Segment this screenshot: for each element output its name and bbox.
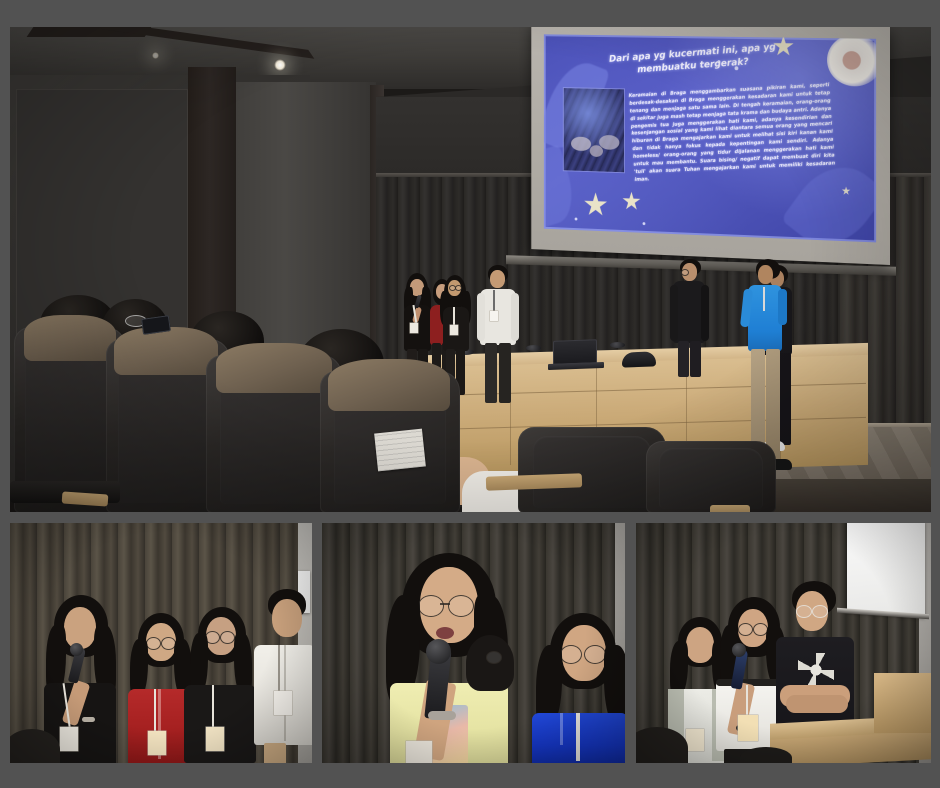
arm bbox=[778, 289, 787, 325]
microphone-base bbox=[610, 342, 625, 348]
lanyard bbox=[212, 685, 214, 729]
laptop-screen bbox=[553, 339, 597, 365]
head bbox=[64, 607, 96, 649]
glasses bbox=[584, 645, 606, 664]
microphone-head bbox=[70, 643, 83, 656]
name-badge bbox=[148, 731, 166, 755]
photo-panel-top: Auditorium with students presenting in f… bbox=[10, 27, 931, 512]
glasses bbox=[681, 269, 689, 276]
lanyard bbox=[154, 689, 156, 733]
ceiling-spotlight bbox=[274, 59, 286, 71]
glasses bbox=[448, 595, 474, 617]
foreground-audience-head bbox=[740, 747, 792, 763]
torso-blue-shirt bbox=[748, 285, 782, 351]
presentation-slide: Dari apa yg kucermati ini, apa yg membua… bbox=[544, 34, 876, 242]
leg bbox=[499, 343, 511, 403]
glasses bbox=[220, 631, 235, 644]
star-decoration bbox=[584, 192, 608, 218]
photo-panel-bottom-right: Three students near a projector screen, … bbox=[636, 523, 931, 763]
shirt-graphic-print bbox=[798, 653, 834, 687]
lanyard bbox=[576, 713, 580, 761]
lanyard bbox=[493, 290, 495, 312]
head bbox=[272, 599, 302, 637]
arm bbox=[701, 285, 709, 341]
name-badge bbox=[490, 311, 498, 321]
bc-person-2 bbox=[530, 613, 625, 763]
arm bbox=[670, 285, 678, 341]
photo-panel-bottom-center: Close-up of a girl with glasses in a yel… bbox=[322, 523, 625, 763]
photo-collage: Student presentation collage — auditoriu… bbox=[0, 0, 940, 788]
leg bbox=[485, 343, 497, 403]
leg bbox=[264, 743, 286, 763]
head bbox=[490, 270, 505, 288]
bl-person-3 bbox=[182, 607, 264, 763]
auditorium-seat bbox=[518, 427, 666, 512]
ceiling-spotlight bbox=[152, 52, 159, 59]
conference-phone bbox=[622, 351, 656, 367]
lanyard bbox=[763, 287, 765, 311]
bracelet bbox=[82, 717, 95, 722]
name-badge bbox=[206, 727, 224, 751]
glasses bbox=[455, 285, 462, 291]
projection-screen: Dari apa yg kucermati ini, apa yg membua… bbox=[531, 27, 890, 265]
arm-crossed bbox=[786, 695, 848, 713]
slide-title: Dari apa yg kucermati ini, apa yg membua… bbox=[585, 40, 802, 81]
glasses bbox=[560, 645, 582, 664]
slide-embedded-photo bbox=[564, 88, 624, 172]
wristband bbox=[428, 711, 456, 720]
bl-person-4 bbox=[254, 589, 312, 763]
seat-tablet-arm bbox=[710, 505, 750, 512]
seat-cushion bbox=[328, 359, 450, 411]
name-badge bbox=[450, 325, 458, 335]
glasses bbox=[146, 637, 161, 650]
flower-decoration bbox=[827, 34, 876, 87]
photo-panel-bottom-left: Four students standing in front of a cur… bbox=[10, 523, 312, 763]
slide-body-text: Keramaian di Braga menggambarkan suasana… bbox=[629, 82, 836, 184]
head bbox=[686, 627, 714, 663]
name-badge bbox=[410, 323, 418, 333]
microphone-head bbox=[732, 643, 746, 657]
arm bbox=[511, 293, 519, 341]
glasses bbox=[418, 595, 444, 617]
dot-decoration bbox=[643, 222, 646, 225]
leg bbox=[678, 341, 689, 377]
seat-cushion bbox=[114, 327, 218, 375]
glasses bbox=[796, 605, 812, 618]
polo-placket bbox=[560, 713, 563, 745]
wood-panel bbox=[874, 673, 931, 733]
torso bbox=[184, 685, 256, 763]
lanyard bbox=[453, 307, 455, 327]
leg bbox=[690, 341, 701, 377]
glasses bbox=[812, 605, 828, 618]
dot-decoration bbox=[575, 218, 578, 221]
star-decoration bbox=[622, 191, 640, 211]
glasses-bridge bbox=[440, 603, 450, 605]
glasses bbox=[486, 651, 502, 664]
auditorium-seat bbox=[646, 441, 776, 512]
microphone-head bbox=[426, 639, 451, 664]
head bbox=[758, 265, 773, 284]
name-badge bbox=[60, 727, 78, 751]
name-badge bbox=[406, 741, 432, 763]
glasses bbox=[738, 623, 753, 636]
presenter-4 bbox=[476, 265, 520, 405]
microphone-base bbox=[526, 345, 541, 351]
name-badge bbox=[738, 715, 758, 741]
name-badge bbox=[686, 729, 704, 751]
lanyard bbox=[278, 645, 280, 693]
notebook bbox=[374, 429, 426, 472]
seat-cushion bbox=[24, 315, 116, 361]
presenter-5 bbox=[670, 259, 710, 377]
collage-title: Student presentation collage — auditoriu… bbox=[0, 0, 1, 1]
lanyard bbox=[746, 685, 748, 717]
name-badge bbox=[274, 691, 292, 715]
mouth bbox=[436, 627, 454, 639]
seat-cushion bbox=[216, 343, 332, 393]
arm bbox=[477, 293, 485, 341]
